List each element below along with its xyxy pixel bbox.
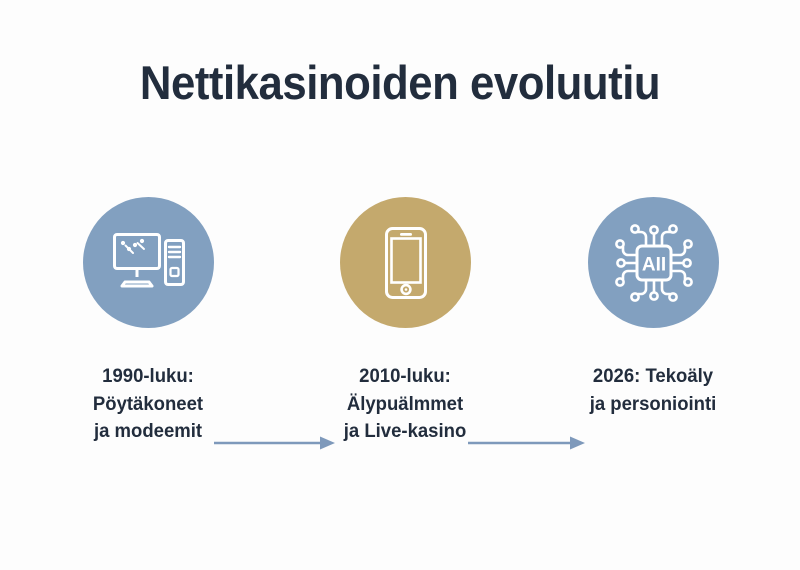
stage-circle-1990s (83, 197, 214, 328)
stage-caption-2026: 2026: Tekoäly ja personiointi (544, 363, 763, 418)
stage-circle-2010s (340, 197, 471, 328)
caption-line: Pöytäkoneet (39, 391, 258, 419)
timeline-stage-2026[interactable]: AII (568, 180, 738, 350)
desktop-computer-icon (112, 232, 186, 294)
caption-line: Älypuälmmet (296, 391, 515, 419)
stage-captions: 1990-luku: Pöytäkoneet ja modeemit 2010-… (0, 363, 800, 473)
caption-line: ja modeemit (39, 418, 258, 446)
timeline-stage-1990s[interactable] (63, 180, 233, 350)
caption-line: ja Live-kasino (296, 418, 515, 446)
caption-line: 1990-luku: (39, 363, 258, 391)
ai-chip-icon: AII (612, 221, 696, 305)
timeline: AII (0, 180, 800, 350)
caption-line: 2026: Tekoäly (544, 363, 763, 391)
caption-line: 2010-luku: (296, 363, 515, 391)
page-title: Nettikasinoiden evoluutiu (28, 58, 772, 107)
caption-line: ja personiointi (544, 391, 763, 419)
smartphone-icon (384, 226, 428, 300)
stage-circle-2026: AII (588, 197, 719, 328)
stage-caption-1990s: 1990-luku: Pöytäkoneet ja modeemit (39, 363, 258, 446)
infographic-canvas: Nettikasinoiden evoluutiu (0, 0, 800, 570)
timeline-stage-2010s[interactable] (320, 180, 490, 350)
ai-chip-label: AII (641, 254, 665, 275)
stage-caption-2010s: 2010-luku: Älypuälmmet ja Live-kasino (296, 363, 515, 446)
